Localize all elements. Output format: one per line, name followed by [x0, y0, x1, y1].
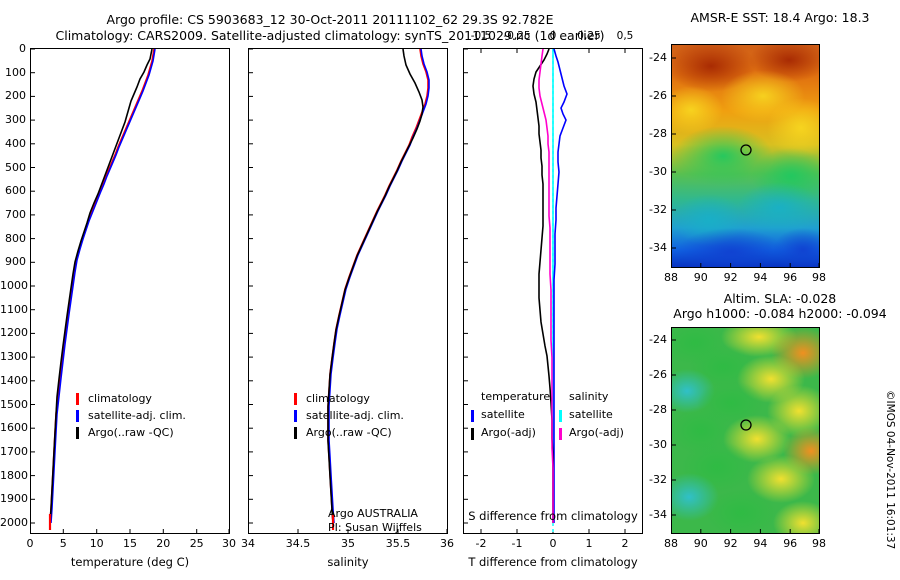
sla-map-panel: -24 -26 -28 -30 -32 -34 88 90 92 94 96 9… [671, 327, 820, 534]
difference-t-xlabel: T difference from climatology [457, 555, 649, 569]
legend-label-sal-satellite: satellite [569, 408, 613, 421]
sst-ytick--34: -34 [643, 241, 667, 254]
legend-swatch-argo [76, 427, 79, 439]
legend-label-satellite-adj: satellite-adj. clim. [306, 409, 404, 422]
sst-xtick-94: 94 [749, 271, 771, 284]
copyright-text: ©IMOS 04-Nov-2011 16:01:37 [884, 390, 896, 549]
sla-xtick-90: 90 [690, 537, 712, 550]
sst-xtick-90: 90 [690, 271, 712, 284]
sla-ytick--32: -32 [643, 473, 667, 486]
figure-title-line1: Argo profile: CS 5903683_12 30-Oct-2011 … [0, 12, 660, 27]
temp-ytick-1400: 1400 [0, 374, 26, 387]
sla-map-title-line1: Altim. SLA: -0.028 [660, 291, 900, 306]
sst-ytick--26: -26 [643, 89, 667, 102]
sst-map-title: AMSR-E SST: 18.4 Argo: 18.3 [660, 10, 900, 25]
copyright-wrap: ©IMOS 04-Nov-2011 16:01:37 [884, 390, 898, 550]
diff-s-xtick-0-25: 0,25 [568, 30, 610, 42]
legend-swatch-sal-argo [559, 428, 562, 440]
sal-xtick-35: 35 [334, 537, 362, 550]
legend-label-argo: Argo(..raw -QC) [306, 426, 392, 439]
sst-ytick--28: -28 [643, 127, 667, 140]
temp-ytick-1300: 1300 [0, 350, 26, 363]
diff-t-xtick-2: 2 [610, 537, 640, 550]
temperature-xlabel: temperature (deg C) [30, 555, 230, 569]
sst-ytick--24: -24 [643, 51, 667, 64]
legend-label-temp-argo: Argo(-adj) [481, 426, 536, 439]
temp-xtick-20: 20 [153, 537, 173, 550]
legend-label-climatology: climatology [88, 392, 152, 405]
salinity-xlabel: salinity [248, 555, 448, 569]
sla-xtick-98: 98 [808, 537, 830, 550]
temp-ytick-300: 300 [4, 113, 26, 126]
legend-label-temp-satellite: satellite [481, 408, 525, 421]
sla-xtick-96: 96 [779, 537, 801, 550]
legend-label-climatology: climatology [306, 392, 370, 405]
temp-ytick-1700: 1700 [0, 445, 26, 458]
salinity-panel: 34 34.5 35 35.5 36 salinity climatology … [248, 48, 448, 534]
diff-s-xtick-0: 0 [538, 30, 568, 42]
temp-ytick-1100: 1100 [0, 303, 26, 316]
agency-line2: PI: Susan Wijffels [328, 521, 422, 534]
legend-header-temperature: temperature [481, 390, 550, 403]
legend-swatch-argo [294, 427, 297, 439]
temperature-panel: 0 100 200 300 400 500 600 700 800 900 10… [30, 48, 230, 534]
diff-t-xtick-0: 0 [538, 537, 568, 550]
legend-swatch-sal-satellite [559, 410, 562, 422]
sst-xtick-92: 92 [720, 271, 742, 284]
temp-xtick-25: 25 [187, 537, 207, 550]
legend-label-argo: Argo(..raw -QC) [88, 426, 174, 439]
diff-t-xtick-1: 1 [574, 537, 604, 550]
sal-xtick-36: 36 [433, 537, 461, 550]
temp-ytick-700: 700 [4, 208, 26, 221]
temp-xtick-15: 15 [120, 537, 140, 550]
difference-panel: -0,5 -0,25 0 0,25 0,5 -2 -1 0 1 2 S diff… [463, 48, 643, 534]
diff-s-xtick-0-5: 0,5 [609, 30, 641, 42]
difference-plot [463, 48, 643, 534]
sla-ytick--30: -30 [643, 438, 667, 451]
sla-xtick-88: 88 [660, 537, 682, 550]
temp-ytick-100: 100 [4, 66, 26, 79]
sla-xtick-94: 94 [749, 537, 771, 550]
difference-legend: temperature salinity satellite satellite… [471, 390, 643, 444]
temp-ytick-1200: 1200 [0, 326, 26, 339]
sst-map-panel: -24 -26 -28 -30 -32 -34 88 90 92 94 96 9… [671, 44, 820, 268]
legend-label-satellite-adj: satellite-adj. clim. [88, 409, 186, 422]
sst-xtick-88: 88 [660, 271, 682, 284]
legend-swatch-temp-argo [471, 428, 474, 440]
temp-xtick-10: 10 [87, 537, 107, 550]
legend-swatch-satellite-adj [76, 410, 79, 422]
legend-header-salinity: salinity [569, 390, 608, 403]
diff-t-xtick--1: -1 [502, 537, 532, 550]
temp-ytick-1600: 1600 [0, 421, 26, 434]
sla-ytick--26: -26 [643, 368, 667, 381]
temp-ytick-500: 500 [4, 161, 26, 174]
legend-swatch-climatology [76, 393, 79, 405]
difference-s-xlabel: S difference from climatology [457, 509, 649, 523]
temp-ytick-1900: 1900 [0, 492, 26, 505]
salinity-plot [248, 48, 448, 534]
temp-ytick-1500: 1500 [0, 398, 26, 411]
legend-swatch-temp-satellite [471, 410, 474, 422]
temp-ytick-0: 0 [4, 42, 26, 55]
sla-ytick--28: -28 [643, 403, 667, 416]
temp-ytick-800: 800 [4, 232, 26, 245]
temp-ytick-400: 400 [4, 137, 26, 150]
temp-ytick-1800: 1800 [0, 469, 26, 482]
agency-line1: Argo AUSTRALIA [328, 507, 418, 520]
sst-ytick--32: -32 [643, 203, 667, 216]
temp-ytick-900: 900 [4, 255, 26, 268]
sla-xtick-92: 92 [720, 537, 742, 550]
diff-s-xtick--0-25: -0,25 [496, 30, 538, 42]
sal-xtick-34: 34 [234, 537, 262, 550]
temp-ytick-1000: 1000 [0, 279, 26, 292]
legend-swatch-satellite-adj [294, 410, 297, 422]
legend-swatch-climatology [294, 393, 297, 405]
temp-ytick-600: 600 [4, 184, 26, 197]
sst-xtick-96: 96 [779, 271, 801, 284]
sla-ytick--34: -34 [643, 508, 667, 521]
temp-ytick-200: 200 [4, 89, 26, 102]
temp-ytick-2000: 2000 [0, 516, 26, 529]
sla-ytick--24: -24 [643, 333, 667, 346]
sst-ytick--30: -30 [643, 165, 667, 178]
temperature-plot [30, 48, 230, 534]
sla-map-title-line2: Argo h1000: -0.084 h2000: -0.094 [655, 306, 900, 321]
temp-xtick-5: 5 [53, 537, 73, 550]
temp-xtick-0: 0 [20, 537, 40, 550]
legend-label-sal-argo: Argo(-adj) [569, 426, 624, 439]
sal-xtick-34-5: 34.5 [284, 537, 312, 550]
sal-xtick-35-5: 35.5 [384, 537, 412, 550]
diff-t-xtick--2: -2 [466, 537, 496, 550]
sst-xtick-98: 98 [808, 271, 830, 284]
figure-root: Argo profile: CS 5903683_12 30-Oct-2011 … [0, 0, 900, 580]
